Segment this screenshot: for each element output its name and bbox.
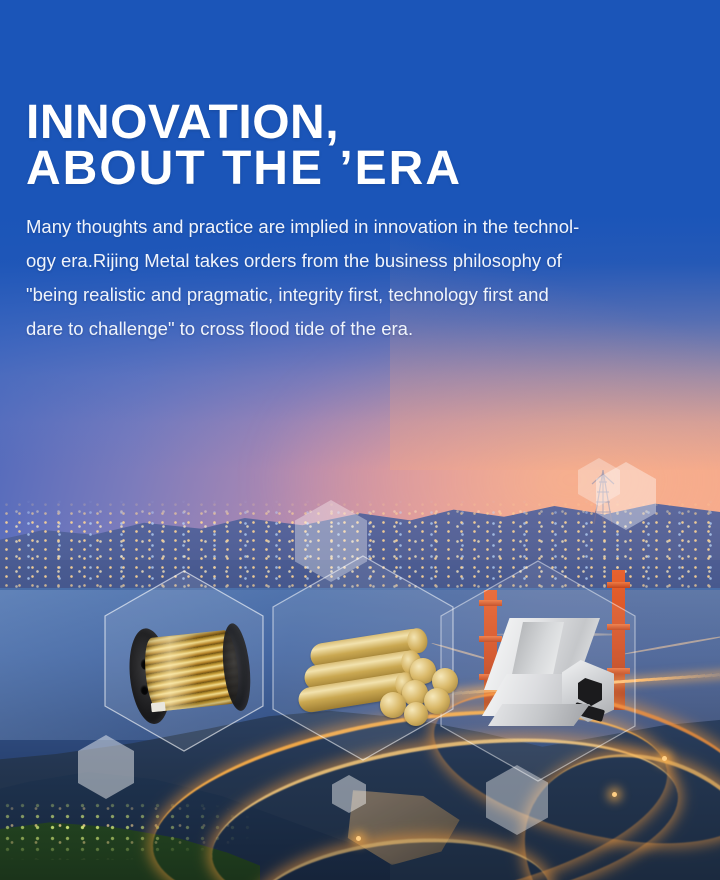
- description-line-1: Many thoughts and practice are implied i…: [26, 210, 671, 244]
- description-line-2: ogy era.Rijing Metal takes orders from t…: [26, 244, 671, 278]
- product-brass-wire-spool: [123, 616, 257, 732]
- headline-line-2: ABOUT THE ’ERA: [26, 142, 462, 195]
- description-line-3: "being realistic and pragmatic, integrit…: [26, 278, 671, 312]
- headline-line-1: INNOVATION,: [26, 96, 339, 149]
- street-lamp: [612, 792, 617, 797]
- rod-end: [404, 702, 428, 726]
- product-aluminium-profile: [484, 618, 616, 730]
- hero-banner: INNOVATION,ABOUT THE ’ERA Many thoughts …: [0, 0, 720, 880]
- profile-bottom-lip: [488, 704, 590, 726]
- rod-end: [424, 688, 450, 714]
- street-lamp: [662, 756, 667, 761]
- hero-description: Many thoughts and practice are implied i…: [26, 210, 671, 346]
- hero-copy: INNOVATION,ABOUT THE ’ERA Many thoughts …: [26, 100, 686, 346]
- street-lamp: [356, 836, 361, 841]
- product-brass-rods: [306, 630, 462, 726]
- rod-end: [380, 692, 406, 718]
- page-title: INNOVATION,ABOUT THE ’ERA: [26, 100, 686, 192]
- description-line-4: dare to challenge" to cross flood tide o…: [26, 312, 671, 346]
- spool-label: [151, 702, 166, 712]
